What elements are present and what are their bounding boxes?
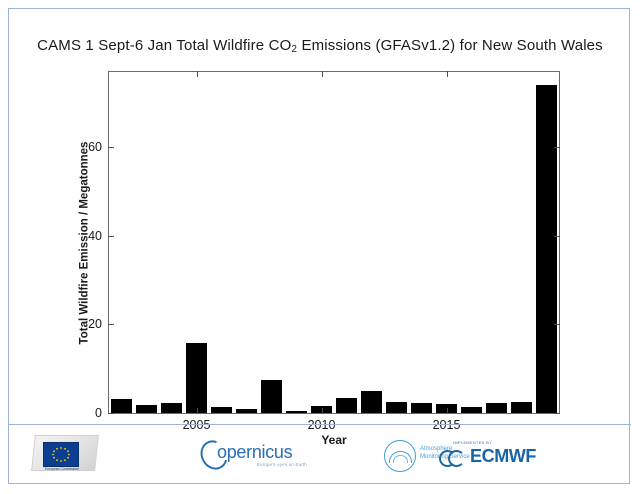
y-tick-label-40: 40 [88,229,102,243]
copernicus-tagline: Europe's eyes on Earth [257,462,307,467]
bar-2006 [211,407,233,413]
ecmwf-swirl-icon [439,449,469,464]
ecmwf-implemented-by-label: IMPLEMENTED BY [453,441,492,445]
eu-stars-icon [44,443,78,466]
y-tick-right-20 [554,324,560,325]
y-tick-0 [108,413,114,414]
y-tick-20 [108,324,114,325]
bar-2007 [236,409,258,413]
y-tick-right-60 [554,147,560,148]
slide-frame: CAMS 1 Sept-6 Jan Total Wildfire CO2 Emi… [8,8,630,484]
european-commission-logo: European Commission [25,433,97,479]
y-tick-right-40 [554,236,560,237]
y-tick-label-60: 60 [88,140,102,154]
y-tick-40 [108,236,114,237]
bar-2018 [511,402,533,413]
y-tick-right-0 [554,413,560,414]
x-tick-2005 [197,408,198,414]
y-tick-label-20: 20 [88,317,102,331]
bar-2017 [486,403,508,413]
bar-2009 [286,411,308,413]
x-tick-top-2015 [447,71,448,77]
copernicus-wordmark: opernicus [217,442,292,463]
chart-container: Total Wildfire Emission / Megatonnes 020… [9,9,631,485]
bar-2011 [336,398,358,414]
x-tick-top-2005 [197,71,198,77]
bar-2019 [536,85,558,413]
bar-2008 [261,380,283,413]
ecmwf-logo: IMPLEMENTED BY ECMWF [439,441,559,473]
bar-2005 [186,343,208,413]
footer-logos: European Commission opernicus Europe's e… [9,424,631,483]
y-tick-label-0: 0 [95,406,102,420]
bar-2014 [411,403,433,413]
x-tick-top-2010 [322,71,323,77]
x-tick-2015 [447,408,448,414]
plot-axes: 0204060200520102015 [108,71,560,414]
bar-2013 [386,402,408,413]
bar-plot-area [109,72,559,413]
ecmwf-wordmark: ECMWF [470,446,536,467]
cams-globe-icon [384,440,416,472]
bar-2016 [461,407,483,413]
copernicus-logo: opernicus Europe's eyes on Earth [201,439,331,473]
copernicus-name: opernicus [217,442,292,462]
bar-2002 [111,399,133,413]
x-tick-2010 [322,408,323,414]
bar-2003 [136,405,158,413]
eu-flag-icon [43,442,79,467]
y-tick-60 [108,147,114,148]
bar-2004 [161,403,183,413]
eu-caption: European Commission [39,467,85,471]
bar-2012 [361,391,383,413]
